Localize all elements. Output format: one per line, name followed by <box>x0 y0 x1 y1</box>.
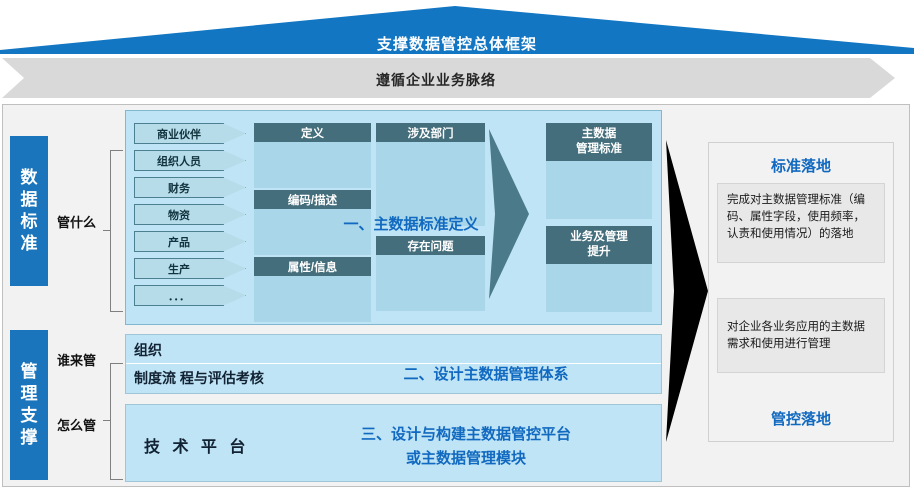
domain-item-6[interactable]: 生产 <box>134 258 224 279</box>
section-3-title: 三、设计与构建主数据管控平台 或主数据管理模块 <box>281 423 651 471</box>
bracket-bottom <box>110 363 123 480</box>
outcome-header-business-improvement-line1: 业务及管理 <box>570 230 628 245</box>
section-2-row-policy: 制度流 程与评估考核 <box>134 368 264 388</box>
right-panel-heading-control-landing: 管控落地 <box>709 408 893 429</box>
attribute-body-definition <box>254 142 371 188</box>
sidebar-label-data-standards: 数据标准 <box>10 136 48 286</box>
domain-item-2-arrow-icon <box>222 150 246 171</box>
chevron-title: 遵循企业业务脉络 <box>2 70 870 90</box>
section-2-panel: 组织 制度流 程与评估考核 二、设计主数据管理体系 <box>125 334 662 394</box>
section-2-row-organization: 组织 <box>134 340 162 360</box>
bracket-bottom-tick <box>103 420 110 421</box>
right-panel-body-standard-landing: 完成对主数据管理标准（编码、属性字段，使用频率，认责和使用情况）的落地 <box>717 183 885 263</box>
section-3-title-line1: 三、设计与构建主数据管控平台 <box>281 423 651 447</box>
domain-item-6-arrow-icon <box>222 258 246 279</box>
bracket-top <box>110 150 123 312</box>
middle-header-problems: 存在问题 <box>376 236 485 255</box>
bracket-top-tick <box>103 230 110 231</box>
domain-item-4[interactable]: 物资 <box>134 204 224 225</box>
section-1-panel: 商业伙伴 组织人员 财务 物资 产品 生产 ．．． 定义 编码/描述 属性/信息… <box>125 110 662 325</box>
sidebar-question-how: 怎么管 <box>57 415 96 434</box>
domain-item-3[interactable]: 财务 <box>134 177 224 198</box>
domain-item-2[interactable]: 组织人员 <box>134 150 224 171</box>
domain-item-1[interactable]: 商业伙伴 <box>134 123 224 144</box>
domain-item-7[interactable]: ．．． <box>134 285 224 306</box>
attribute-body-property-info <box>254 276 371 322</box>
outcome-body-master-data-standard <box>546 161 652 219</box>
section-3-title-line2: 或主数据管理模块 <box>281 447 651 471</box>
domain-item-5-arrow-icon <box>222 231 246 252</box>
outcome-header-business-improvement-line2: 提升 <box>588 245 611 260</box>
attribute-header-property-info: 属性/信息 <box>254 257 371 276</box>
domain-item-3-arrow-icon <box>222 177 246 198</box>
attribute-header-definition: 定义 <box>254 123 371 142</box>
domain-item-7-arrow-icon <box>222 285 246 306</box>
outcome-header-business-improvement: 业务及管理 提升 <box>546 226 652 264</box>
middle-header-departments: 涉及部门 <box>376 123 485 142</box>
section-2-title: 二、设计主数据管理体系 <box>311 363 661 384</box>
outcome-header-master-data-standard: 主数据 管理标准 <box>546 123 652 161</box>
outcome-header-master-data-standard-line2: 管理标准 <box>576 142 622 157</box>
section-3-row-technology-platform: 技 术 平 台 <box>144 433 249 457</box>
right-panel-heading-standard-landing: 标准落地 <box>709 155 893 176</box>
sidebar-question-what: 管什么 <box>57 212 96 231</box>
right-panel-body-control-landing: 对企业各业务应用的主数据需求和使用进行管理 <box>717 298 885 373</box>
sidebar-label-management-support-text: 管理支撑 <box>19 361 39 449</box>
outcome-body-business-improvement <box>546 264 652 312</box>
domain-item-4-arrow-icon <box>222 204 246 225</box>
sidebar-label-data-standards-text: 数据标准 <box>19 167 39 255</box>
right-outcomes-panel: 标准落地 完成对主数据管理标准（编码、属性字段，使用频率，认责和使用情况）的落地… <box>708 142 894 442</box>
middle-body-problems <box>376 255 485 311</box>
outcome-header-master-data-standard-line1: 主数据 <box>582 127 617 142</box>
attribute-header-code-desc: 编码/描述 <box>254 190 371 209</box>
section-1-title: 一、主数据标准定义 <box>296 213 526 234</box>
banner-title: 支撑数据管控总体框架 <box>0 33 914 54</box>
section-3-panel: 技 术 平 台 三、设计与构建主数据管控平台 或主数据管理模块 <box>125 404 662 482</box>
domain-item-1-arrow-icon <box>222 123 246 144</box>
domain-item-5[interactable]: 产品 <box>134 231 224 252</box>
sidebar-label-management-support: 管理支撑 <box>10 330 48 480</box>
top-banner: 支撑数据管控总体框架 <box>0 6 914 56</box>
sidebar-question-who: 谁来管 <box>57 350 96 369</box>
